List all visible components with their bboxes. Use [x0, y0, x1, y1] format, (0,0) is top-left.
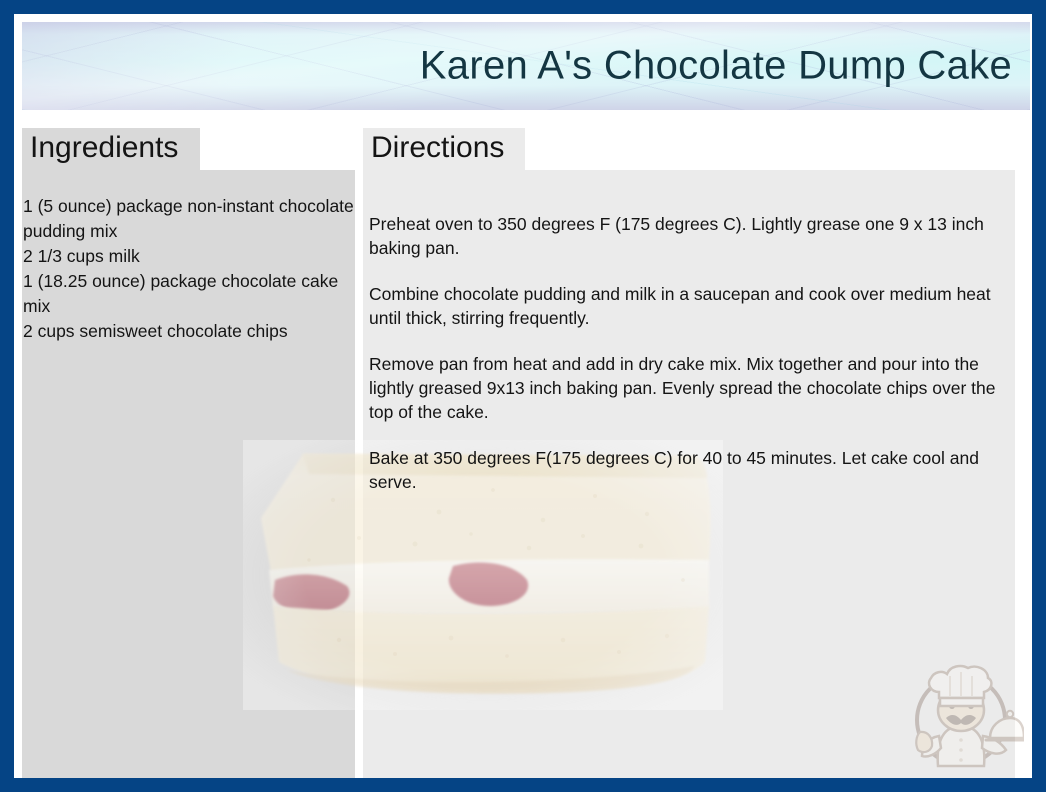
directions-step-list: Preheat oven to 350 degrees F (175 degre… [369, 194, 1011, 494]
recipe-card: Karen A's Chocolate Dump Cake Ingredient… [0, 0, 1046, 792]
ingredients-list: 1 (5 ounce) package non-instant chocolat… [23, 194, 359, 344]
ingredients-heading: Ingredients [30, 131, 178, 165]
direction-step: Bake at 350 degrees F(175 degrees C) for… [369, 446, 1011, 494]
title-banner: Karen A's Chocolate Dump Cake [22, 22, 1030, 110]
list-item: 1 (5 ounce) package non-instant chocolat… [23, 194, 359, 244]
card-border-right [1032, 0, 1046, 792]
list-item: 2 cups semisweet chocolate chips [23, 319, 359, 344]
directions-heading: Directions [371, 131, 504, 165]
direction-step: Remove pan from heat and add in dry cake… [369, 352, 1011, 424]
list-item: 1 (18.25 ounce) package chocolate cake m… [23, 269, 359, 319]
list-item: 2 1/3 cups milk [23, 244, 359, 269]
direction-step: Combine chocolate pudding and milk in a … [369, 282, 1011, 330]
direction-step: Preheat oven to 350 degrees F (175 degre… [369, 212, 1011, 260]
card-border-bottom [0, 778, 1046, 792]
card-border-left [0, 0, 14, 792]
page-title: Karen A's Chocolate Dump Cake [420, 44, 1012, 89]
card-border-top [0, 0, 1046, 14]
